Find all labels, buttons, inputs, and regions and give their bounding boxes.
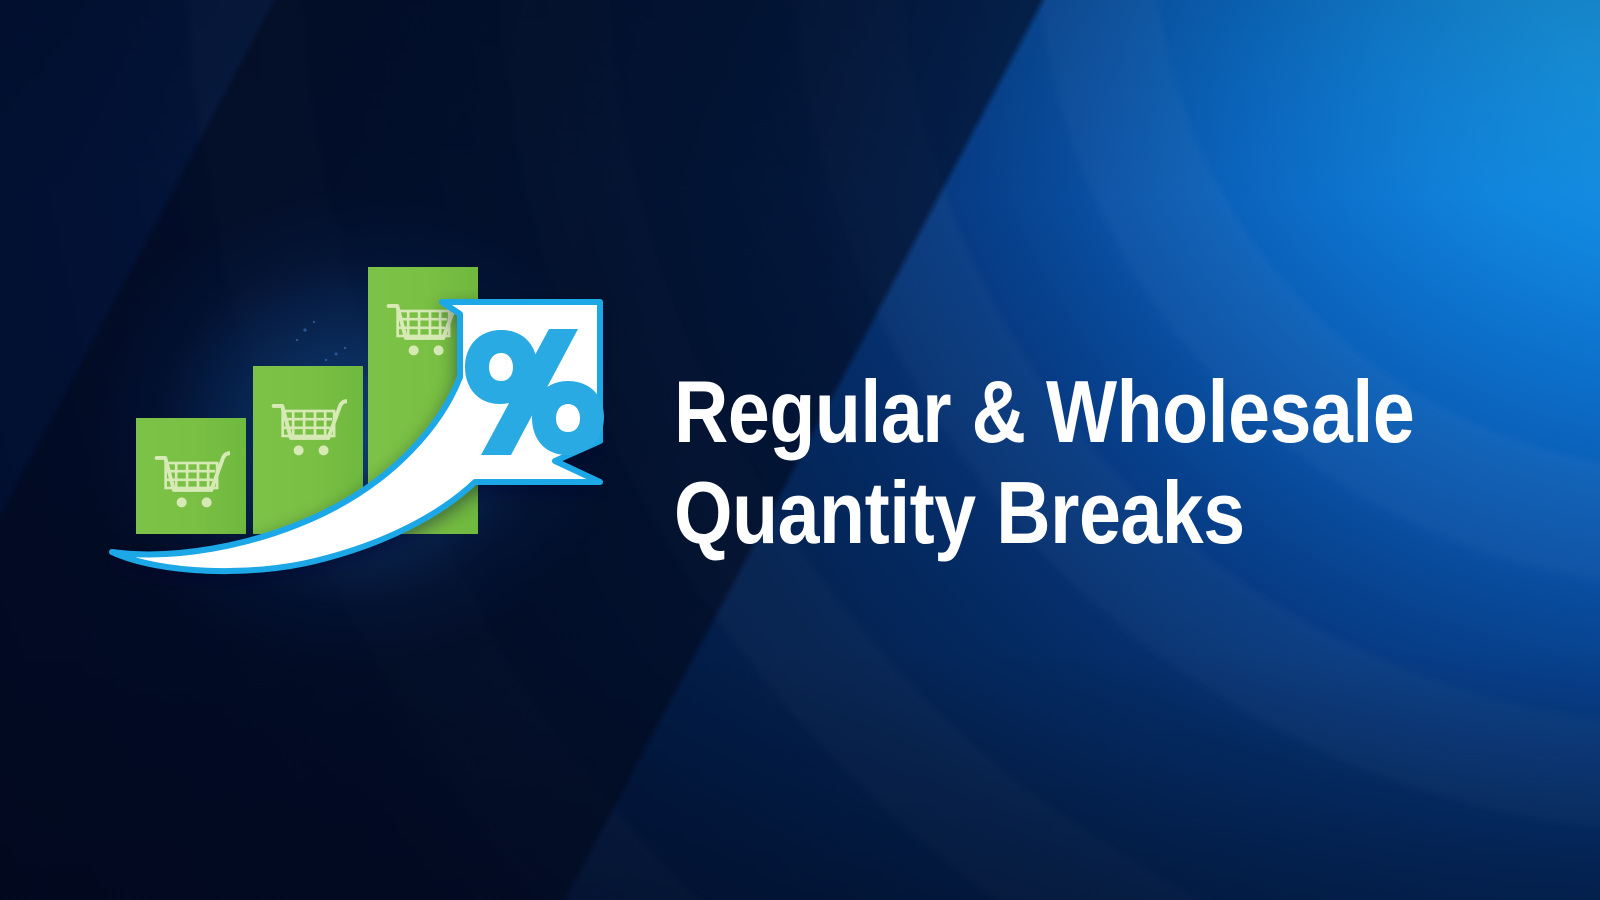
growth-chart-illustration [100, 230, 640, 590]
headline-line-2: Quantity Breaks [674, 463, 1290, 564]
promo-banner: Regular & Wholesale Quantity Breaks [0, 0, 1600, 900]
headline-line-1: Regular & Wholesale [674, 362, 1290, 463]
bar-item-1 [136, 418, 246, 534]
headline: Regular & Wholesale Quantity Breaks [674, 362, 1290, 564]
